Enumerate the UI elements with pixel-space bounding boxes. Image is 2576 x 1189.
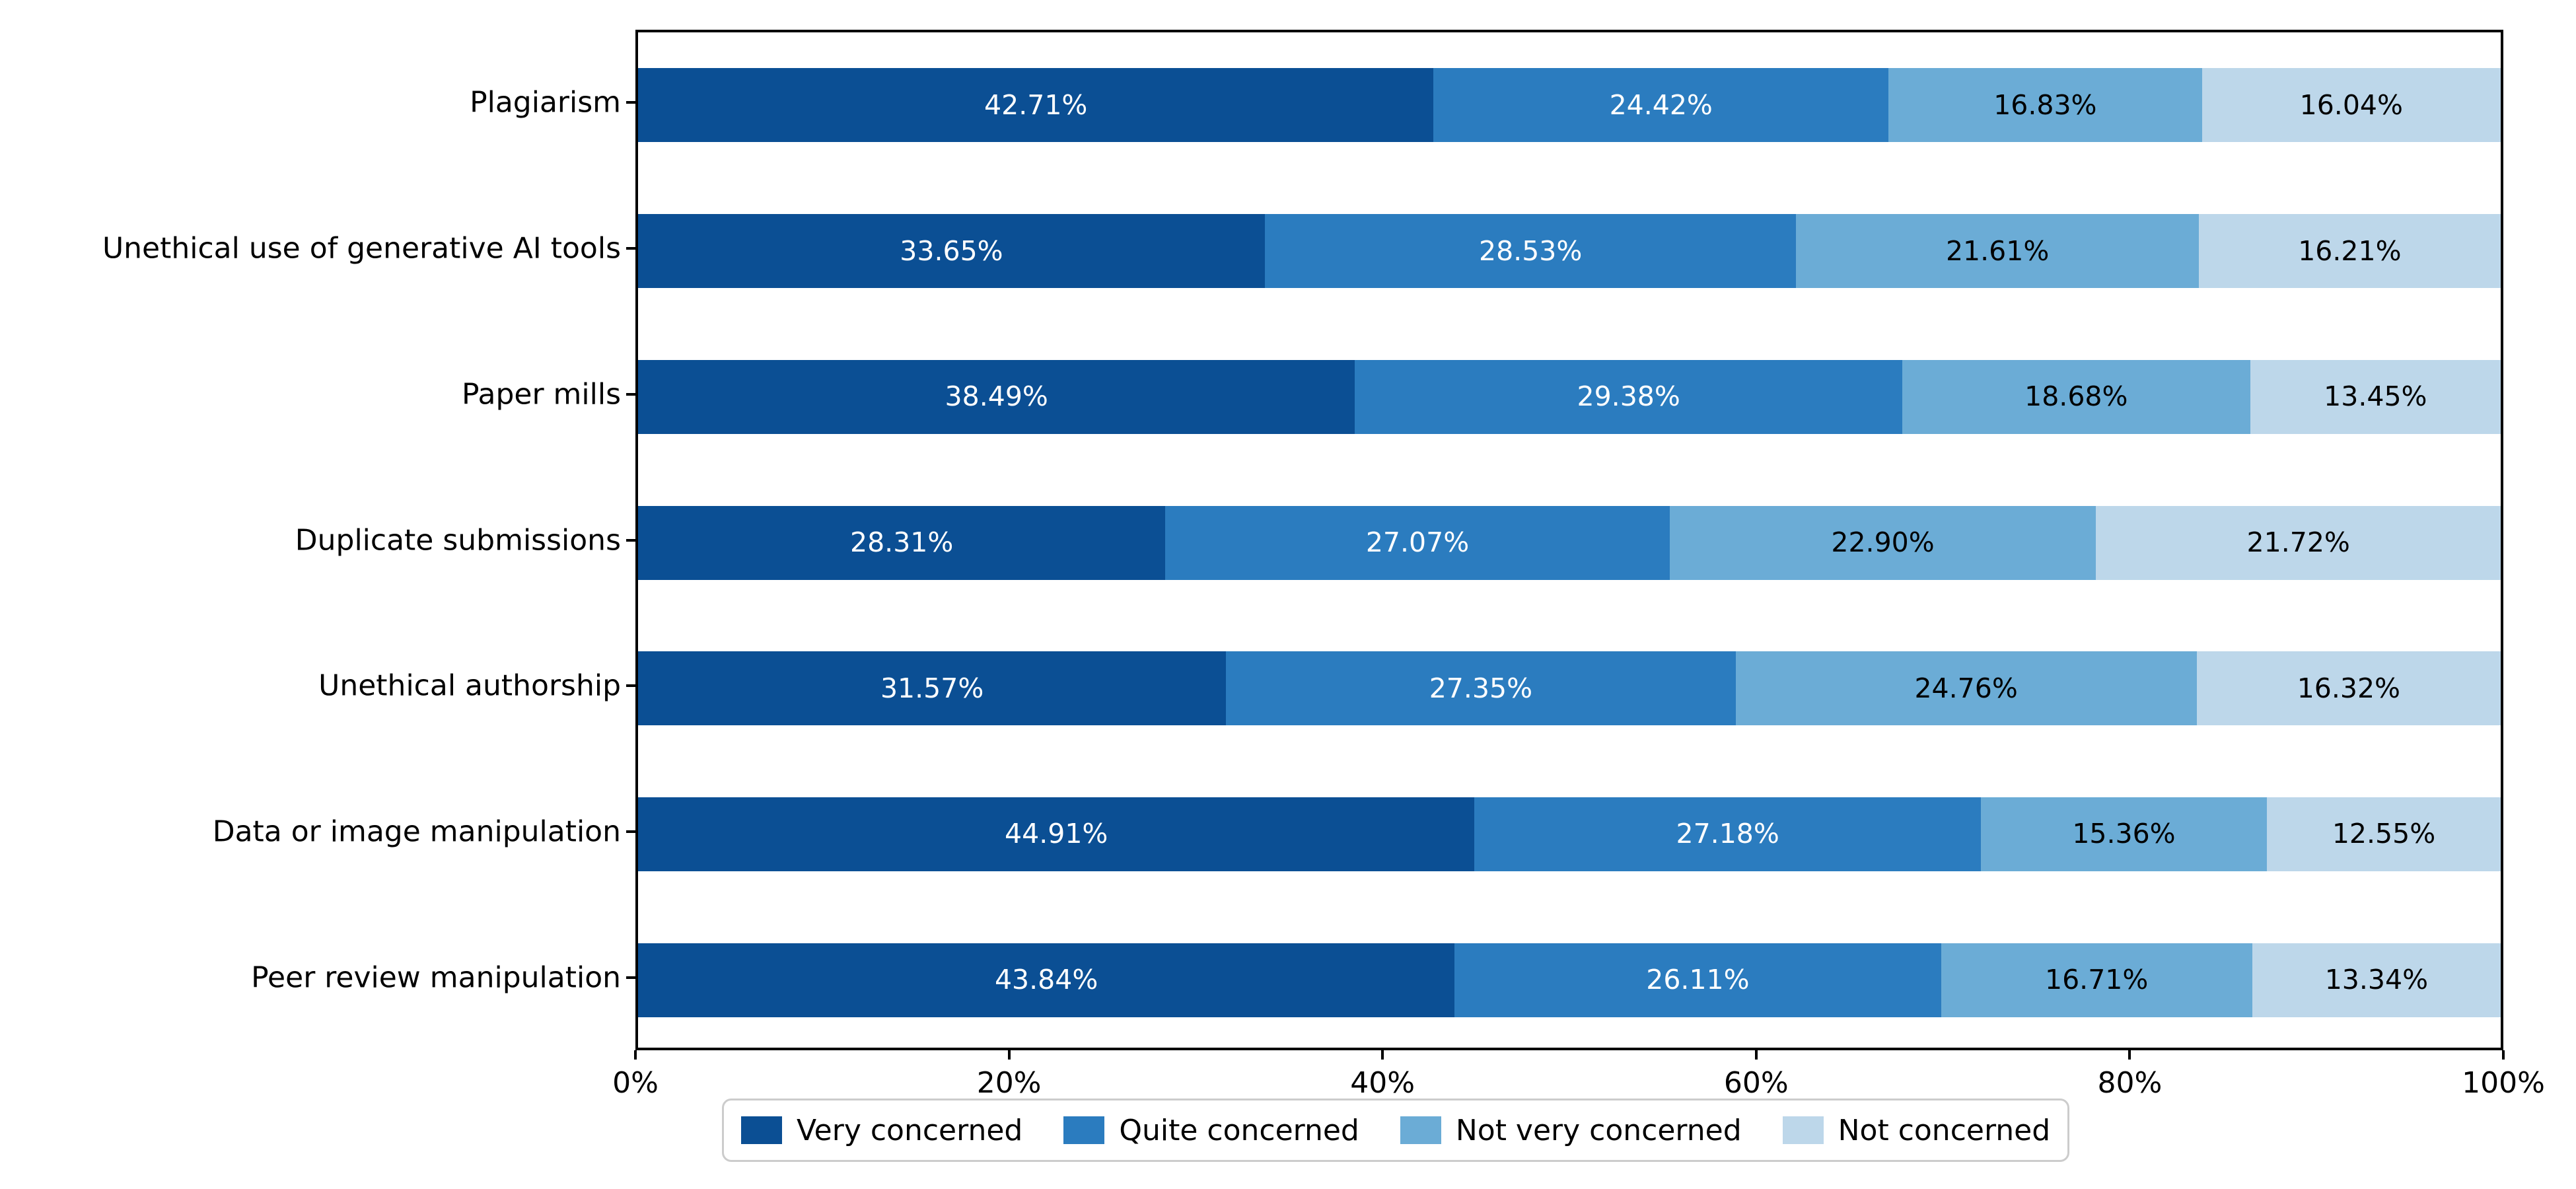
bar-segment-value-label: 24.76% bbox=[1914, 675, 2017, 702]
figure: PlagiarismUnethical use of generative AI… bbox=[0, 0, 2576, 1189]
bar-row: 38.49%29.38%18.68%13.45% bbox=[638, 360, 2501, 434]
bar-segment: 21.72% bbox=[2096, 506, 2501, 580]
bar-segment: 43.84% bbox=[638, 943, 1454, 1017]
legend: Very concernedQuite concernedNot very co… bbox=[722, 1099, 2069, 1162]
bar-segment-value-label: 15.36% bbox=[2072, 820, 2175, 847]
y-axis-tick-mark bbox=[626, 684, 635, 687]
y-axis-tick-label: Unethical use of generative AI tools bbox=[102, 232, 621, 266]
bar-segment-value-label: 16.04% bbox=[2300, 92, 2403, 119]
bar-segment: 28.53% bbox=[1265, 214, 1797, 288]
bar-segment-value-label: 28.31% bbox=[850, 529, 953, 556]
x-axis-tick-mark bbox=[634, 1050, 637, 1060]
bar-segment: 26.11% bbox=[1454, 943, 1941, 1017]
bar-segment: 27.07% bbox=[1165, 506, 1669, 580]
y-axis-tick-mark bbox=[626, 539, 635, 542]
bar-segment-value-label: 16.83% bbox=[1993, 92, 2096, 119]
bar-segment: 33.65% bbox=[638, 214, 1265, 288]
x-axis-tick-mark bbox=[1008, 1050, 1011, 1060]
y-axis-tick-mark bbox=[626, 101, 635, 104]
bar-segment-value-label: 29.38% bbox=[1577, 383, 1680, 410]
y-axis-tick-label: Peer review manipulation bbox=[251, 960, 621, 994]
legend-item[interactable]: Not concerned bbox=[1783, 1114, 2051, 1147]
bar-segment: 29.38% bbox=[1355, 360, 1902, 434]
legend-item[interactable]: Not very concerned bbox=[1400, 1114, 1742, 1147]
legend-label: Not concerned bbox=[1838, 1114, 2051, 1147]
bar-segment: 24.76% bbox=[1736, 651, 2197, 725]
x-axis-tick-label: 20% bbox=[977, 1066, 1042, 1100]
x-axis-tick-label: 80% bbox=[2097, 1066, 2162, 1100]
bar-segment-value-label: 42.71% bbox=[984, 92, 1087, 119]
y-axis-tick-label: Unethical authorship bbox=[318, 669, 621, 703]
bar-segment: 12.55% bbox=[2267, 797, 2501, 871]
x-axis-tick-label: 60% bbox=[1724, 1066, 1789, 1100]
bar-segment-value-label: 31.57% bbox=[880, 675, 984, 702]
bar-segment: 27.35% bbox=[1226, 651, 1735, 725]
y-axis-tick-mark bbox=[626, 393, 635, 396]
bar-segment: 16.71% bbox=[1941, 943, 2252, 1017]
y-axis-tick-mark bbox=[626, 830, 635, 833]
bar-segment-value-label: 13.34% bbox=[2325, 966, 2428, 993]
bar-segment: 24.42% bbox=[1433, 68, 1888, 142]
x-axis-tick-mark bbox=[2128, 1050, 2131, 1060]
legend-label: Not very concerned bbox=[1456, 1114, 1742, 1147]
bar-segment: 15.36% bbox=[1981, 797, 2267, 871]
bar-segment: 28.31% bbox=[638, 506, 1165, 580]
bar-segment: 18.68% bbox=[1902, 360, 2250, 434]
bar-row: 42.71%24.42%16.83%16.04% bbox=[638, 68, 2501, 142]
bar-segment: 38.49% bbox=[638, 360, 1355, 434]
plot-area: 42.71%24.42%16.83%16.04%33.65%28.53%21.6… bbox=[635, 30, 2503, 1050]
bar-segment-value-label: 27.18% bbox=[1676, 820, 1779, 847]
bar-segment: 16.04% bbox=[2202, 68, 2501, 142]
bar-segment: 16.32% bbox=[2197, 651, 2501, 725]
legend-label: Very concerned bbox=[797, 1114, 1022, 1147]
bar-segment-value-label: 16.32% bbox=[2297, 675, 2400, 702]
y-axis-tick-label: Data or image manipulation bbox=[213, 814, 621, 848]
x-axis-tick-mark bbox=[1755, 1050, 1758, 1060]
bar-segment: 27.18% bbox=[1474, 797, 1980, 871]
y-axis-tick-mark bbox=[626, 247, 635, 250]
stacked-bars: 42.71%24.42%16.83%16.04%33.65%28.53%21.6… bbox=[638, 32, 2501, 1048]
bar-segment-value-label: 27.35% bbox=[1429, 675, 1532, 702]
bar-segment-value-label: 38.49% bbox=[945, 383, 1048, 410]
bar-segment-value-label: 24.42% bbox=[1610, 92, 1713, 119]
bar-segment: 16.83% bbox=[1888, 68, 2202, 142]
bar-segment-value-label: 18.68% bbox=[2024, 383, 2128, 410]
bar-segment: 22.90% bbox=[1670, 506, 2096, 580]
bar-segment-value-label: 16.21% bbox=[2298, 238, 2401, 265]
bar-row: 31.57%27.35%24.76%16.32% bbox=[638, 651, 2501, 725]
bar-segment-value-label: 12.55% bbox=[2332, 820, 2435, 847]
bar-segment: 44.91% bbox=[638, 797, 1474, 871]
legend-item[interactable]: Very concerned bbox=[741, 1114, 1022, 1147]
bar-segment: 16.21% bbox=[2199, 214, 2501, 288]
y-axis-tick-label: Duplicate submissions bbox=[295, 523, 621, 557]
bar-segment-value-label: 44.91% bbox=[1005, 820, 1108, 847]
y-axis-tick-mark bbox=[626, 976, 635, 979]
bar-segment-value-label: 27.07% bbox=[1366, 529, 1469, 556]
bar-segment: 42.71% bbox=[638, 68, 1433, 142]
legend-swatch-icon bbox=[741, 1116, 782, 1144]
bar-row: 43.84%26.11%16.71%13.34% bbox=[638, 943, 2501, 1017]
bar-row: 33.65%28.53%21.61%16.21% bbox=[638, 214, 2501, 288]
bar-segment: 31.57% bbox=[638, 651, 1226, 725]
x-axis-tick-label: 40% bbox=[1350, 1066, 1415, 1100]
x-axis-tick-mark bbox=[1381, 1050, 1384, 1060]
bar-segment-value-label: 33.65% bbox=[900, 238, 1003, 265]
y-axis-tick-label: Plagiarism bbox=[470, 86, 621, 120]
legend-swatch-icon bbox=[1400, 1116, 1441, 1144]
y-axis-tick-label: Paper mills bbox=[462, 377, 621, 411]
bar-row: 44.91%27.18%15.36%12.55% bbox=[638, 797, 2501, 871]
bar-segment-value-label: 16.71% bbox=[2045, 966, 2148, 993]
legend-swatch-icon bbox=[1063, 1116, 1104, 1144]
legend-label: Quite concerned bbox=[1119, 1114, 1359, 1147]
bar-segment-value-label: 21.72% bbox=[2247, 529, 2350, 556]
x-axis-tick-mark bbox=[2502, 1050, 2505, 1060]
bar-segment-value-label: 43.84% bbox=[995, 966, 1098, 993]
bar-segment-value-label: 13.45% bbox=[2324, 383, 2427, 410]
bar-segment-value-label: 21.61% bbox=[1946, 238, 2049, 265]
legend-swatch-icon bbox=[1783, 1116, 1824, 1144]
bar-segment: 13.34% bbox=[2252, 943, 2501, 1017]
bar-segment-value-label: 26.11% bbox=[1646, 966, 1749, 993]
bar-segment: 13.45% bbox=[2250, 360, 2501, 434]
x-axis-tick-label: 100% bbox=[2462, 1066, 2545, 1100]
x-axis-tick-label: 0% bbox=[612, 1066, 659, 1100]
legend-item[interactable]: Quite concerned bbox=[1063, 1114, 1359, 1147]
bar-segment: 21.61% bbox=[1796, 214, 2198, 288]
bar-segment-value-label: 22.90% bbox=[1831, 529, 1934, 556]
bar-segment-value-label: 28.53% bbox=[1479, 238, 1582, 265]
bar-row: 28.31%27.07%22.90%21.72% bbox=[638, 506, 2501, 580]
